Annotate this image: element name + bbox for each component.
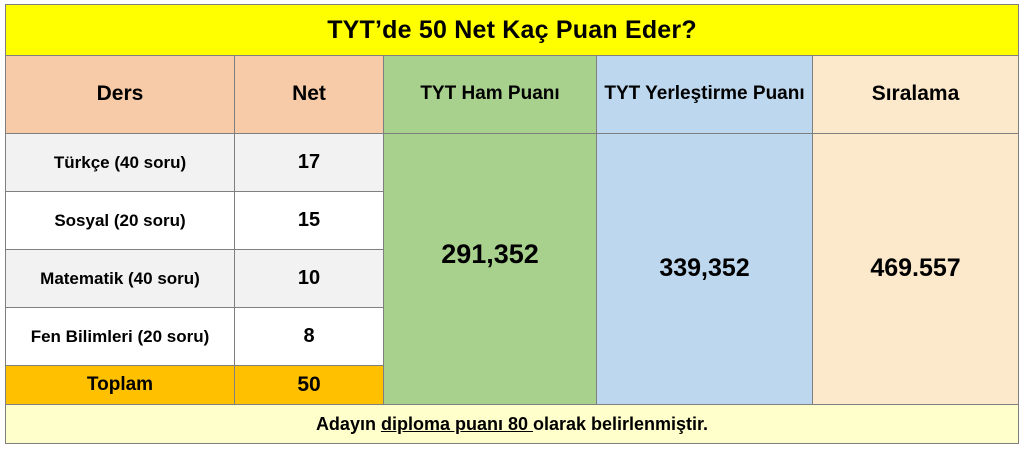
- value-siralama: 469.557: [813, 134, 1018, 405]
- table-row: Türkçe (40 soru): [6, 134, 235, 192]
- total-row-net: 50: [235, 366, 384, 405]
- value-yerlestirme-puani: 339,352: [597, 134, 813, 405]
- column-header-yerlestirme-puani: TYT Yerleştirme Puanı: [597, 56, 813, 134]
- column-header-ders: Ders: [6, 56, 235, 134]
- table-row: Fen Bilimleri (20 soru): [6, 308, 235, 366]
- column-header-siralama: Sıralama: [813, 56, 1018, 134]
- score-table: TYT’de 50 Net Kaç Puan Eder? Ders Net TY…: [5, 4, 1019, 444]
- table-row: 8: [235, 308, 384, 366]
- footer-note: Adayın diploma puanı 80 olarak belirlenm…: [6, 405, 1018, 443]
- footer-note-suffix: olarak belirlenmiştir.: [533, 414, 708, 435]
- column-header-ham-puani: TYT Ham Puanı: [384, 56, 597, 134]
- table-row: 15: [235, 192, 384, 250]
- table-title-bar: TYT’de 50 Net Kaç Puan Eder?: [6, 5, 1018, 56]
- value-ham-puani: 291,352: [384, 134, 597, 405]
- table-row: 10: [235, 250, 384, 308]
- column-header-net: Net: [235, 56, 384, 134]
- table-row: Matematik (40 soru): [6, 250, 235, 308]
- total-row-label: Toplam: [6, 366, 235, 405]
- screenshot-root: TYT’de 50 Net Kaç Puan Eder? Ders Net TY…: [0, 0, 1024, 450]
- footer-note-underlined: diploma puanı 80: [381, 414, 533, 435]
- table-row: 17: [235, 134, 384, 192]
- footer-note-prefix: Adayın: [316, 414, 381, 435]
- table-row: Sosyal (20 soru): [6, 192, 235, 250]
- page-title: TYT’de 50 Net Kaç Puan Eder?: [327, 16, 697, 45]
